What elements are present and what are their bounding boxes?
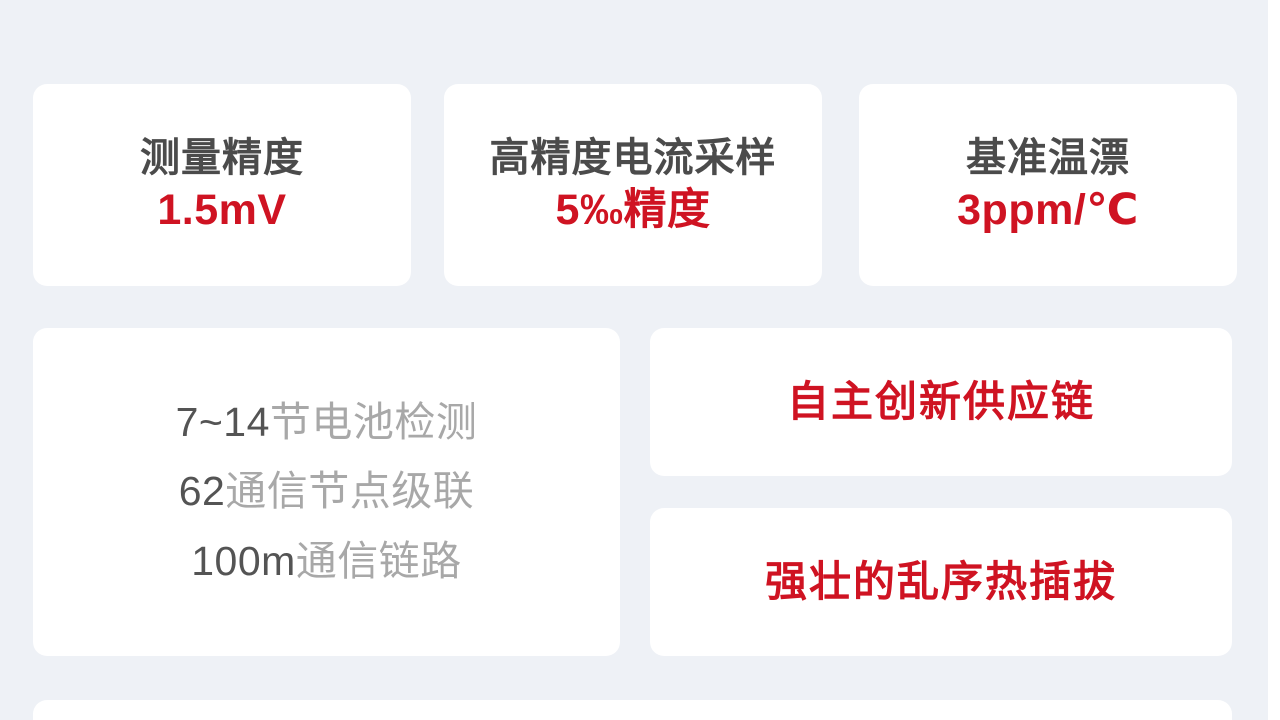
- spec-line: 7~14节电池检测: [176, 401, 478, 444]
- page-right-margin: [1268, 0, 1280, 720]
- highlight-card-supply-chain[interactable]: 自主创新供应链: [650, 328, 1232, 476]
- stat-card-title: 测量精度: [140, 136, 304, 181]
- spec-card-system-capabilities[interactable]: 7~14节电池检测 62通信节点级联 100m通信链路: [33, 328, 620, 656]
- stat-card-temperature-drift[interactable]: 基准温漂 3ppm/℃: [859, 84, 1237, 286]
- spec-line-label: 通信链路: [296, 538, 462, 584]
- feature-cards-page: 测量精度 1.5mV 高精度电流采样 5‰精度 基准温漂 3ppm/℃ 7~14…: [0, 0, 1280, 720]
- stat-card-title: 基准温漂: [966, 136, 1130, 181]
- stat-card-measure-accuracy[interactable]: 测量精度 1.5mV: [33, 84, 411, 286]
- spec-line-number: 100m: [191, 538, 296, 584]
- stat-card-value: 5‰精度: [556, 186, 711, 234]
- spec-line-label: 通信节点级联: [225, 468, 474, 514]
- next-section-card-partial[interactable]: [33, 700, 1232, 720]
- stat-card-current-sampling[interactable]: 高精度电流采样 5‰精度: [444, 84, 822, 286]
- spec-line-number: 62: [179, 468, 226, 514]
- highlight-card-hot-swap[interactable]: 强壮的乱序热插拔: [650, 508, 1232, 656]
- spec-line-label: 节电池检测: [270, 399, 478, 445]
- stat-card-value: 1.5mV: [157, 186, 286, 234]
- spec-line-number: 7~14: [176, 399, 270, 445]
- spec-line: 100m通信链路: [191, 540, 462, 583]
- highlight-card-text: 强壮的乱序热插拔: [765, 559, 1117, 605]
- stat-card-value: 3ppm/℃: [957, 186, 1139, 234]
- stat-card-title: 高精度电流采样: [490, 136, 777, 181]
- highlight-card-text: 自主创新供应链: [787, 379, 1095, 425]
- spec-line: 62通信节点级联: [179, 470, 475, 513]
